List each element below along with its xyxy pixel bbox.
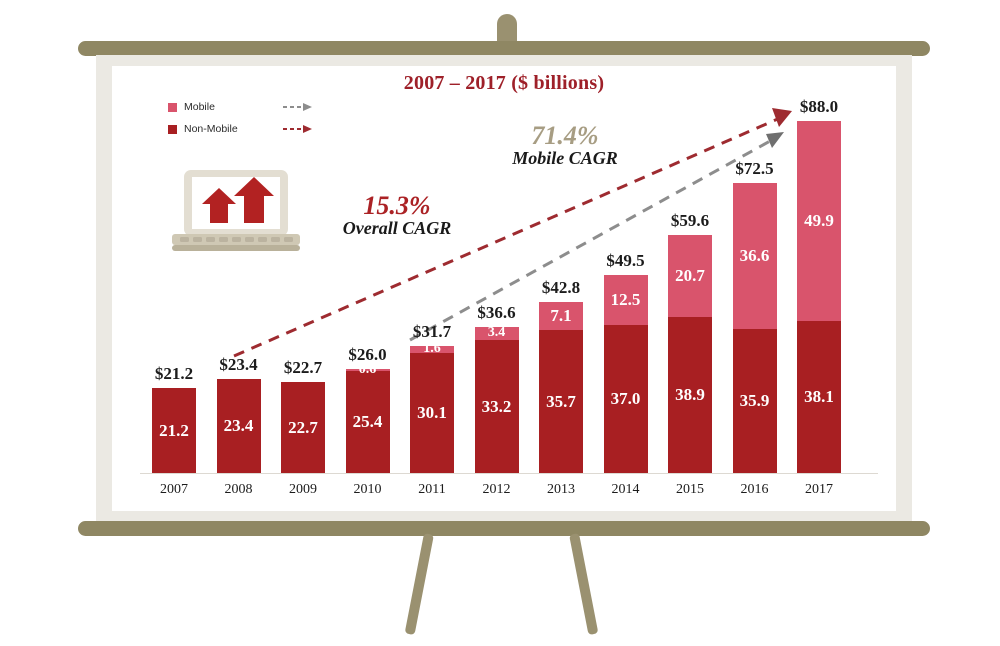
presentation-easel: 2007 – 2017 ($ billions) Mobile Non-Mobi… bbox=[0, 0, 1000, 646]
x-axis-tick-label: 2017 bbox=[784, 482, 854, 498]
bar-segment-mobile[interactable]: 12.5 bbox=[604, 275, 648, 325]
bar-group[interactable]: 38.149.9$88.02017 bbox=[797, 121, 841, 473]
bar-total-label: $72.5 bbox=[720, 159, 790, 179]
bar-segment-non-mobile[interactable]: 25.4 bbox=[346, 371, 390, 473]
bar-total-label: $21.2 bbox=[139, 364, 209, 384]
bar-segment-non-mobile[interactable]: 35.7 bbox=[539, 330, 583, 473]
bar-segment-non-mobile[interactable]: 38.1 bbox=[797, 321, 841, 473]
bar-total-label: $36.6 bbox=[462, 303, 532, 323]
x-axis-line bbox=[140, 473, 878, 474]
x-axis-tick-label: 2009 bbox=[268, 482, 338, 498]
x-axis-tick-label: 2012 bbox=[462, 482, 532, 498]
bar-group[interactable]: 25.40.6$26.02010 bbox=[346, 369, 390, 473]
x-axis-tick-label: 2011 bbox=[397, 482, 467, 498]
bar-total-label: $22.7 bbox=[268, 358, 338, 378]
bar-group[interactable]: 33.23.4$36.62012 bbox=[475, 327, 519, 473]
bar-segment-non-mobile[interactable]: 30.1 bbox=[410, 353, 454, 473]
bar-segment-mobile[interactable]: 7.1 bbox=[539, 302, 583, 330]
bar-segment-non-mobile[interactable]: 21.2 bbox=[152, 388, 196, 473]
bar-total-label: $59.6 bbox=[655, 211, 725, 231]
bar-segment-mobile[interactable]: 0.6 bbox=[346, 369, 390, 371]
board-top-rail bbox=[78, 41, 930, 56]
bar-group[interactable]: 35.936.6$72.52016 bbox=[733, 183, 777, 473]
page-title: 2007 – 2017 ($ billions) bbox=[112, 72, 896, 95]
bar-segment-non-mobile[interactable]: 33.2 bbox=[475, 340, 519, 473]
easel-leg-left bbox=[405, 533, 434, 635]
x-axis-tick-label: 2015 bbox=[655, 482, 725, 498]
x-axis-tick-label: 2013 bbox=[526, 482, 596, 498]
bar-group[interactable]: 35.77.1$42.82013 bbox=[539, 302, 583, 473]
bar-total-label: $31.7 bbox=[397, 322, 467, 342]
bar-total-label: $23.4 bbox=[204, 355, 274, 375]
bar-segment-non-mobile[interactable]: 23.4 bbox=[217, 379, 261, 473]
bar-segment-non-mobile[interactable]: 37.0 bbox=[604, 325, 648, 473]
bar-group[interactable]: 22.7$22.72009 bbox=[281, 382, 325, 473]
bar-segment-non-mobile[interactable]: 35.9 bbox=[733, 329, 777, 473]
bar-total-label: $42.8 bbox=[526, 278, 596, 298]
bar-segment-non-mobile[interactable]: 22.7 bbox=[281, 382, 325, 473]
bar-group[interactable]: 38.920.7$59.62015 bbox=[668, 235, 712, 473]
bar-segment-non-mobile[interactable]: 38.9 bbox=[668, 317, 712, 473]
bar-segment-mobile[interactable]: 36.6 bbox=[733, 183, 777, 329]
x-axis-tick-label: 2010 bbox=[333, 482, 403, 498]
x-axis-tick-label: 2008 bbox=[204, 482, 274, 498]
bar-total-label: $88.0 bbox=[784, 97, 854, 117]
bar-segment-mobile[interactable]: 20.7 bbox=[668, 235, 712, 318]
bar-total-label: $26.0 bbox=[333, 345, 403, 365]
bar-segment-mobile[interactable]: 3.4 bbox=[475, 327, 519, 341]
bar-chart-plot: 21.2$21.2200723.4$23.4200822.7$22.720092… bbox=[140, 93, 880, 473]
easel-leg-right bbox=[569, 533, 598, 635]
x-axis-tick-label: 2014 bbox=[591, 482, 661, 498]
bar-total-label: $49.5 bbox=[591, 251, 661, 271]
x-axis-tick-label: 2007 bbox=[139, 482, 209, 498]
x-axis-tick-label: 2016 bbox=[720, 482, 790, 498]
bar-group[interactable]: 21.2$21.22007 bbox=[152, 388, 196, 473]
board-bottom-rail bbox=[78, 521, 930, 536]
bar-group[interactable]: 37.012.5$49.52014 bbox=[604, 275, 648, 473]
bar-group[interactable]: 30.11.6$31.72011 bbox=[410, 346, 454, 473]
bar-segment-mobile[interactable]: 1.6 bbox=[410, 346, 454, 352]
bar-segment-mobile[interactable]: 49.9 bbox=[797, 121, 841, 321]
bar-group[interactable]: 23.4$23.42008 bbox=[217, 379, 261, 473]
